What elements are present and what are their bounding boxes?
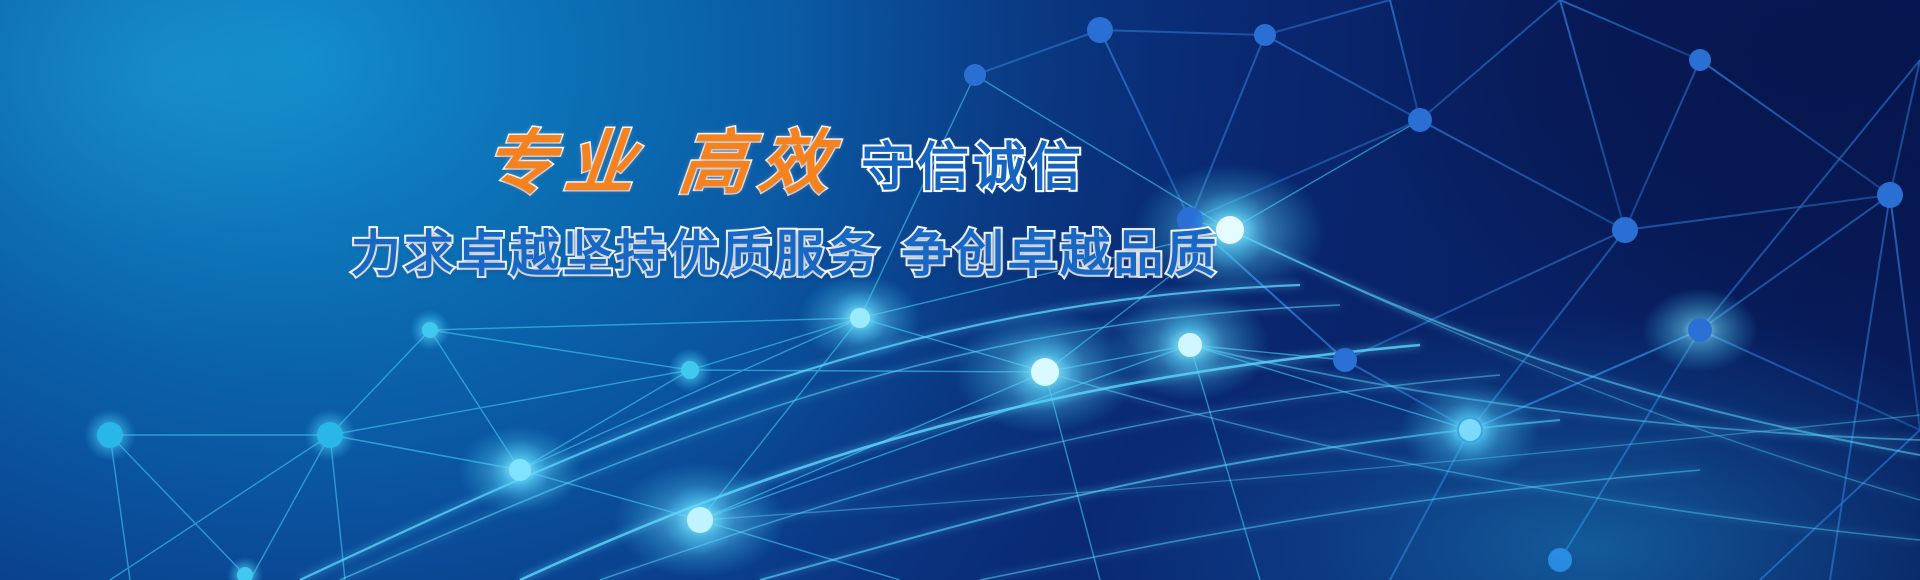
headline-accent-text: 专业 高效 — [481, 128, 843, 198]
banner-subheadline: 力求卓越坚持优质服务 争创卓越品质 — [0, 214, 1570, 286]
banner-text-block: 专业 高效 守信诚信 力求卓越坚持优质服务 争创卓越品质 — [0, 128, 1570, 286]
headline-secondary-text: 守信诚信 — [861, 142, 1085, 198]
hero-banner: 专业 高效 守信诚信 力求卓越坚持优质服务 争创卓越品质 — [0, 0, 1920, 580]
banner-headline: 专业 高效 守信诚信 — [0, 128, 1570, 198]
